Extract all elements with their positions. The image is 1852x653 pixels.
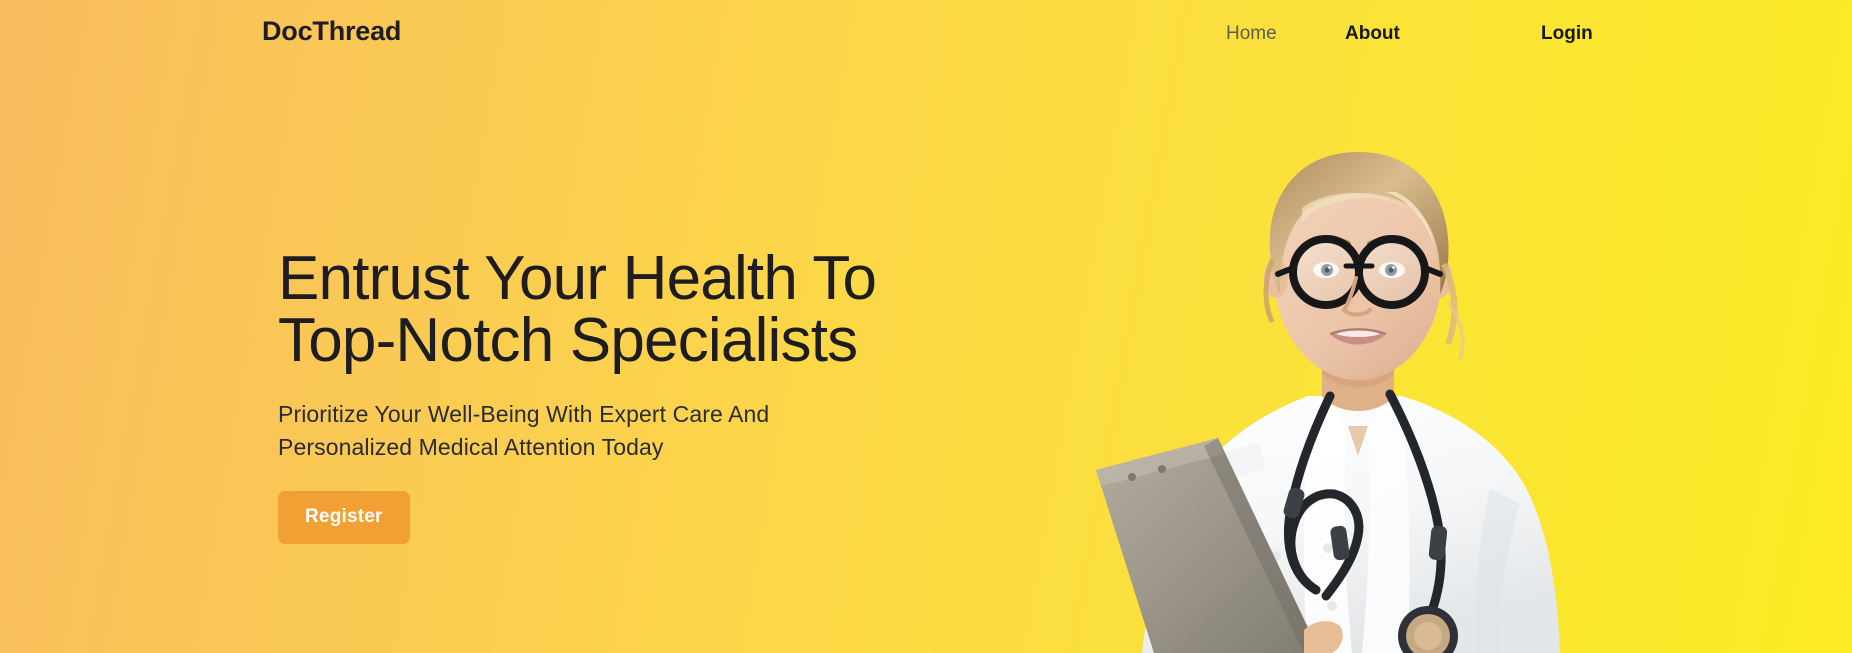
hero-headline: Entrust Your Health To Top-Notch Special… bbox=[278, 248, 1078, 372]
hero-section: DocThread Home About Login Entrust Your … bbox=[0, 0, 1852, 653]
hero-copy: Entrust Your Health To Top-Notch Special… bbox=[278, 248, 1078, 544]
nav-item-about[interactable]: About bbox=[1345, 20, 1400, 48]
nav-item-login[interactable]: Login bbox=[1541, 20, 1593, 48]
nav-links: Home About Login bbox=[1210, 20, 1630, 48]
doctor-photo bbox=[1090, 96, 1610, 653]
doctor-illustration bbox=[1090, 96, 1610, 653]
hero-subheadline: Prioritize Your Well-Being With Expert C… bbox=[278, 398, 1078, 463]
register-button[interactable]: Register bbox=[278, 491, 410, 544]
navbar: DocThread Home About Login bbox=[0, 0, 1852, 66]
brand-logo[interactable]: DocThread bbox=[262, 16, 401, 47]
nav-item-home[interactable]: Home bbox=[1226, 20, 1277, 48]
